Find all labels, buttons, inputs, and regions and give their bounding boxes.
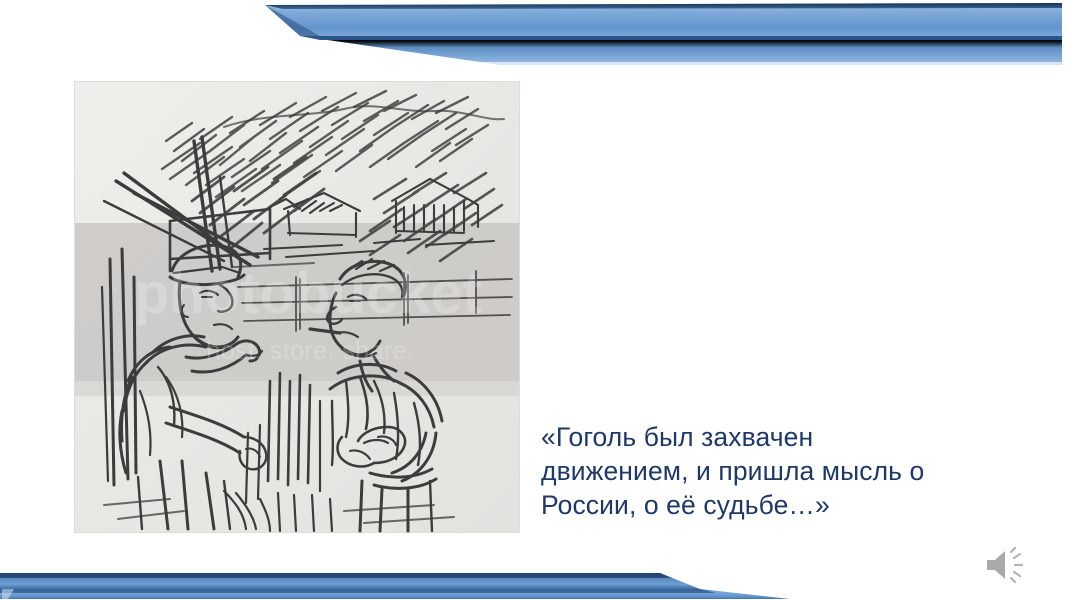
- bottom-angled-ribbon: [0, 555, 1067, 600]
- ribbon-strip-upper: [265, 3, 1062, 36]
- speaker-icon[interactable]: [983, 543, 1027, 587]
- ribbon-seam: [300, 36, 1062, 40]
- quote-text: «Гоголь был захвачен движением, и пришла…: [541, 420, 1011, 522]
- quote-block: «Гоголь был захвачен движением, и пришла…: [541, 420, 1011, 522]
- ribbon-bottom-strip-upper: [0, 573, 700, 589]
- top-angled-ribbon: [0, 0, 1067, 70]
- ribbon-strip-upper-edge: [265, 3, 1062, 9]
- ribbon-bottom-seam: [0, 589, 716, 593]
- ribbon-bottom-notch: [2, 589, 14, 599]
- slide-canvas: photobucket host. store. share. «Гоголь …: [0, 0, 1067, 600]
- svg-text:host. store. share.: host. store. share.: [206, 335, 414, 365]
- ribbon-facet-shadow: [265, 5, 320, 36]
- ribbon-bottom-strip-lower: [0, 589, 790, 599]
- svg-text:photobucket: photobucket: [134, 261, 482, 326]
- pencil-sketch-two-men-conversation: photobucket host. store. share.: [74, 81, 520, 533]
- ribbon-strip-lower-highlight: [480, 62, 1062, 65]
- illustration-frame: photobucket host. store. share.: [74, 81, 520, 533]
- ribbon-bottom-strip-upper-edge: [0, 573, 672, 578]
- ribbon-strip-lower: [300, 36, 1062, 62]
